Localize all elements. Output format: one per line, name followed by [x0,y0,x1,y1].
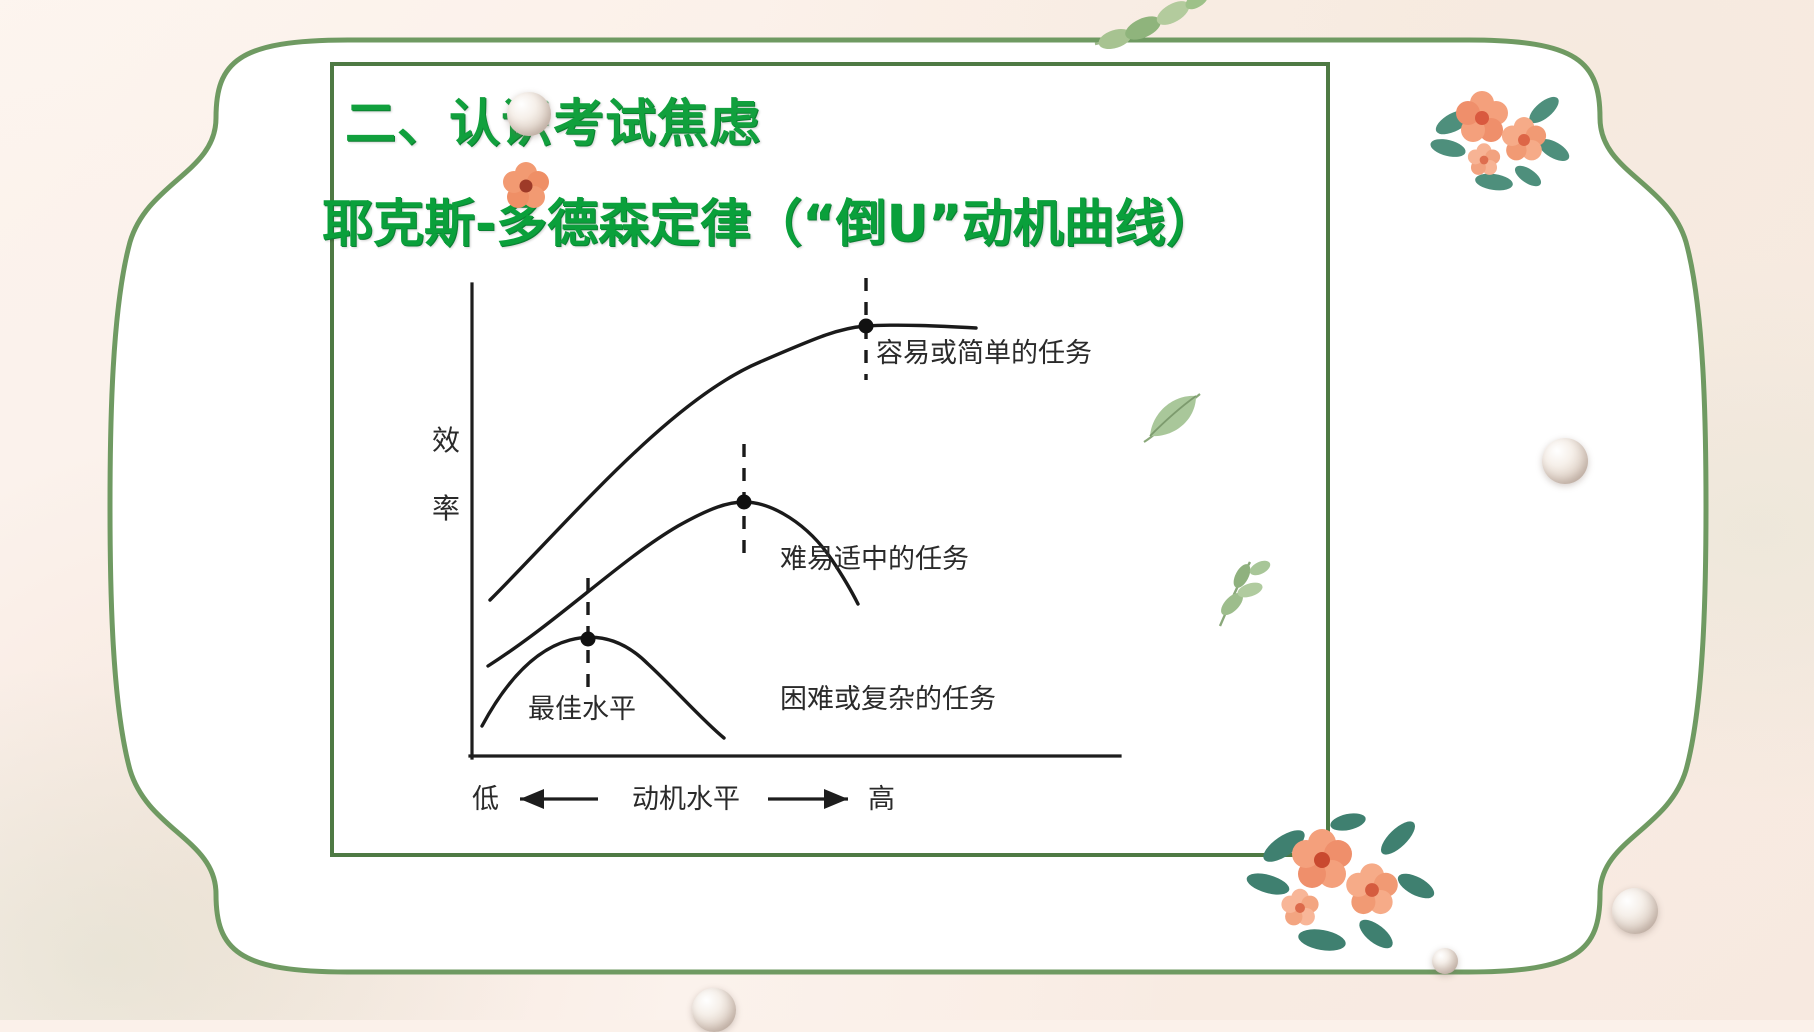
pearl-decor-top [507,92,551,136]
peak-dot-hard [581,632,596,647]
yerkes-dodson-chart: 效 率 容易或简单的任务 难易适中的任务 困难或复杂的任务 最佳水平 低 动机水… [420,270,1140,830]
pearl-decor-bottom [692,988,736,1032]
peak-dot-easy [859,319,874,334]
page-subtitle: 耶克斯-多德森定律（“倒U”动机曲线） [322,198,1217,252]
peak-dot-medium [737,495,752,510]
x-axis-name-label: 动机水平 [632,784,740,815]
pearl-decor-small [1432,948,1458,974]
x-axis-high-label: 高 [868,784,895,815]
label-optimal-level: 最佳水平 [528,694,636,725]
pearl-decor-bottom-right [1612,888,1658,934]
pearl-decor-right [1542,438,1588,484]
label-medium-task: 难易适中的任务 [780,544,969,575]
right-arrow-head-icon [824,789,848,809]
curve-medium-task [488,502,858,666]
y-axis-label-top: 效 [432,424,460,457]
label-easy-task: 容易或简单的任务 [876,338,1092,369]
page-title: 二、认识考试焦虑 [345,98,761,152]
y-axis-label-bottom: 率 [432,492,460,525]
left-arrow-head-icon [520,789,544,809]
x-axis-low-label: 低 [472,784,499,815]
label-hard-task: 困难或复杂的任务 [780,684,996,715]
